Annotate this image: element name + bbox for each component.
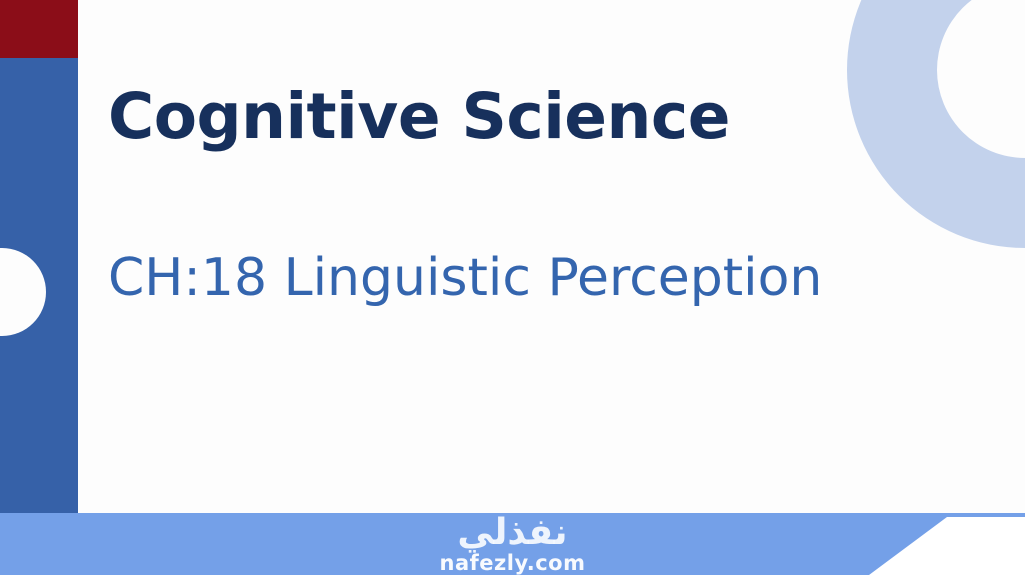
slide-canvas: Cognitive Science CH:18 Linguistic Perce… bbox=[0, 0, 1025, 575]
sidebar-body-block bbox=[0, 58, 78, 513]
corner-triangle-icon bbox=[869, 517, 1025, 575]
watermark-domain-text: nafezly.com bbox=[440, 553, 586, 574]
watermark-logo: نفذلي nafezly.com bbox=[440, 515, 586, 574]
sidebar-accent-block bbox=[0, 0, 78, 58]
circle-cutout-icon bbox=[0, 248, 46, 336]
slide-content: Cognitive Science CH:18 Linguistic Perce… bbox=[108, 0, 1025, 513]
sidebar bbox=[0, 0, 78, 513]
watermark-arabic-text: نفذلي bbox=[440, 515, 586, 551]
page-subtitle: CH:18 Linguistic Perception bbox=[108, 250, 822, 307]
footer-bar: نفذلي nafezly.com bbox=[0, 513, 1025, 575]
page-title: Cognitive Science bbox=[108, 84, 730, 150]
